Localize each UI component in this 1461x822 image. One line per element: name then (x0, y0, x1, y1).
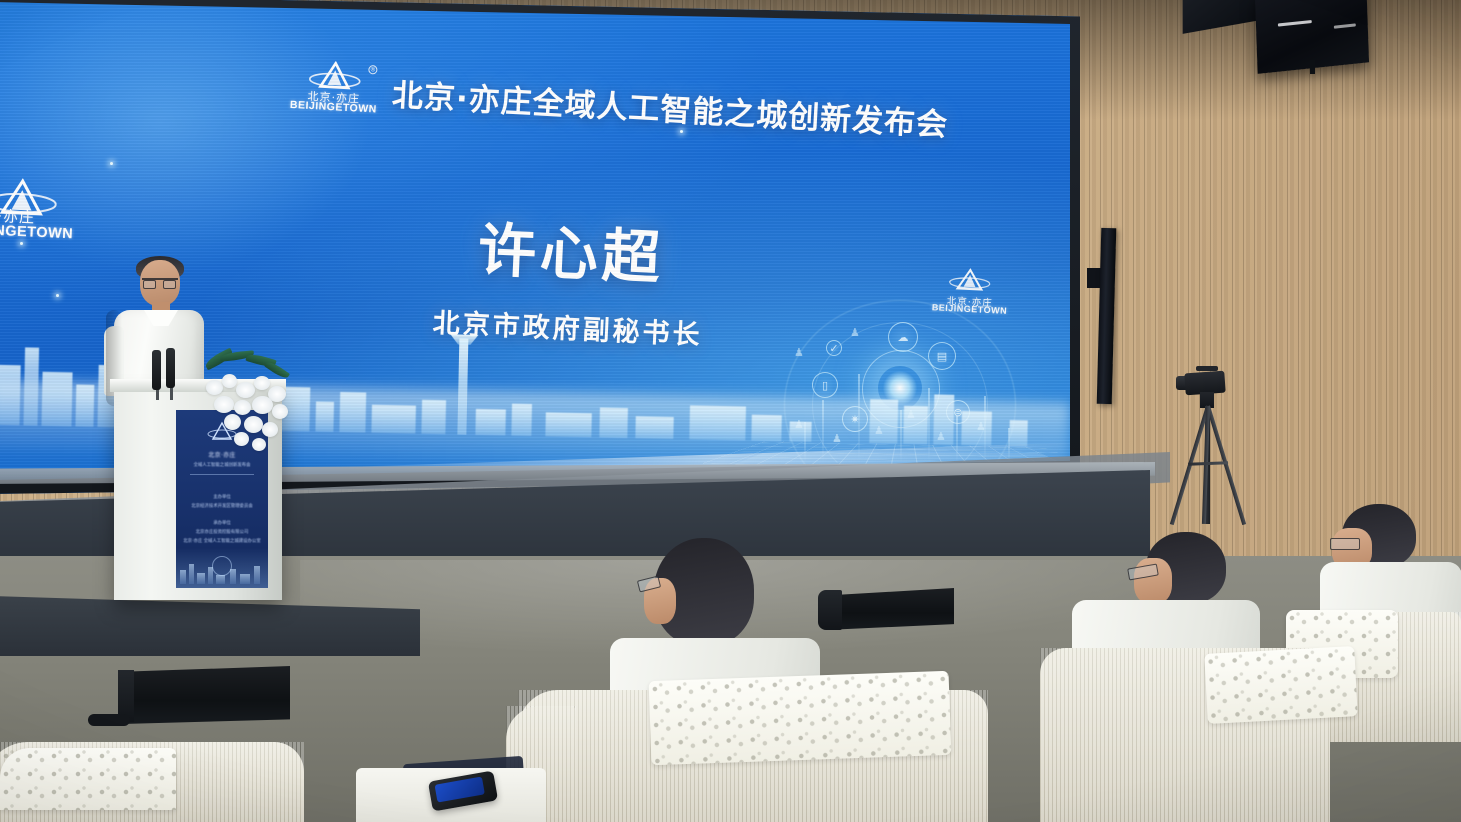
podium-skyline-building (180, 570, 186, 584)
headrest-cover-right (1204, 646, 1357, 724)
flower-petal (252, 396, 273, 414)
microphone-right (166, 348, 175, 388)
podium-sign-seal (212, 556, 232, 576)
microphone-left (152, 350, 161, 390)
conference-photo-scene: ® 北京·亦庄 BEIJINGETOWN 北京·亦庄全域人工智能之城创新发布会 … (0, 0, 1461, 822)
logo-glyph-svg-right (948, 267, 991, 293)
sparkle (20, 242, 23, 245)
flower-petal (272, 404, 288, 419)
flower-petal (262, 422, 278, 437)
podium-sign-subtitle: 全域人工智能之城创新发布会 (182, 462, 262, 468)
podium-sign-line2-detail2: 北京·亦庄 全域人工智能之城建设办公室 (182, 538, 262, 544)
phone-screen (435, 777, 485, 803)
headrest-pattern (1204, 646, 1357, 724)
headrest-cover-lower-left (0, 748, 176, 810)
podium-skyline-building (216, 575, 225, 584)
sparkle (680, 130, 683, 133)
podium-skyline-building (240, 574, 250, 584)
logo-left-english: BEIJINGETOWN (0, 221, 44, 241)
podium-skyline-building (189, 564, 194, 584)
headrest-cover-foreground (649, 671, 952, 765)
skyline-tower-top (450, 334, 478, 345)
podium-sign-line2: 承办单位 (182, 520, 262, 526)
flower-petal (252, 438, 266, 451)
sparkle (56, 294, 59, 297)
headrest-pattern (649, 671, 952, 765)
flower-petal (254, 376, 270, 390)
glasses-lens-left (143, 280, 156, 289)
speaker-mount-stem (1310, 60, 1315, 74)
presenter-glasses-icon (142, 278, 178, 287)
stage-monitor-left (122, 666, 290, 724)
flower-arrangement (200, 352, 304, 462)
speaker-brand-mark (1278, 20, 1312, 27)
podium-sign-divider (190, 474, 254, 475)
sparkle (110, 162, 113, 165)
podium-skyline-building (254, 566, 260, 584)
podium-skyline-building (197, 573, 205, 584)
event-title: 北京·亦庄全域人工智能之城创新发布会 (391, 69, 949, 144)
flower-petal (234, 432, 249, 446)
flower-petal (206, 380, 223, 395)
registered-mark: ® (368, 65, 377, 74)
flower-petal (214, 396, 234, 413)
glasses-lens-right (163, 280, 176, 289)
screen-header: ® 北京·亦庄 BEIJINGETOWN 北京·亦庄全域人工智能之城创新发布会 (289, 59, 851, 143)
speaker-name: 许心超 (370, 198, 773, 300)
podium-sign-line1-detail: 北京经济技术开发区管理委员会 (182, 503, 262, 509)
podium-skyline-building (230, 569, 236, 584)
camera-handle (1196, 366, 1218, 371)
beijing-etown-logo-icon: ® 北京·亦庄 BEIJINGETOWN (289, 59, 380, 118)
screen-logo-left-icon: 北京·亦庄 BEIJINGETOWN (0, 175, 86, 267)
monitor-cable (88, 714, 130, 726)
presenter (96, 258, 206, 398)
glasses-icon (1330, 538, 1360, 550)
flower-petal (234, 400, 251, 415)
flower-petal (236, 382, 255, 398)
flower-petal (244, 416, 263, 433)
flower-petal (224, 414, 241, 430)
speaker-brand-mark-2 (1334, 23, 1356, 28)
headrest-pattern (0, 748, 176, 810)
podium-sign-line1: 主办单位 (182, 494, 262, 500)
flower-petal (222, 374, 237, 388)
podium-sign-line2-detail: 北京亦庄投资控股有限公司 (182, 529, 262, 535)
